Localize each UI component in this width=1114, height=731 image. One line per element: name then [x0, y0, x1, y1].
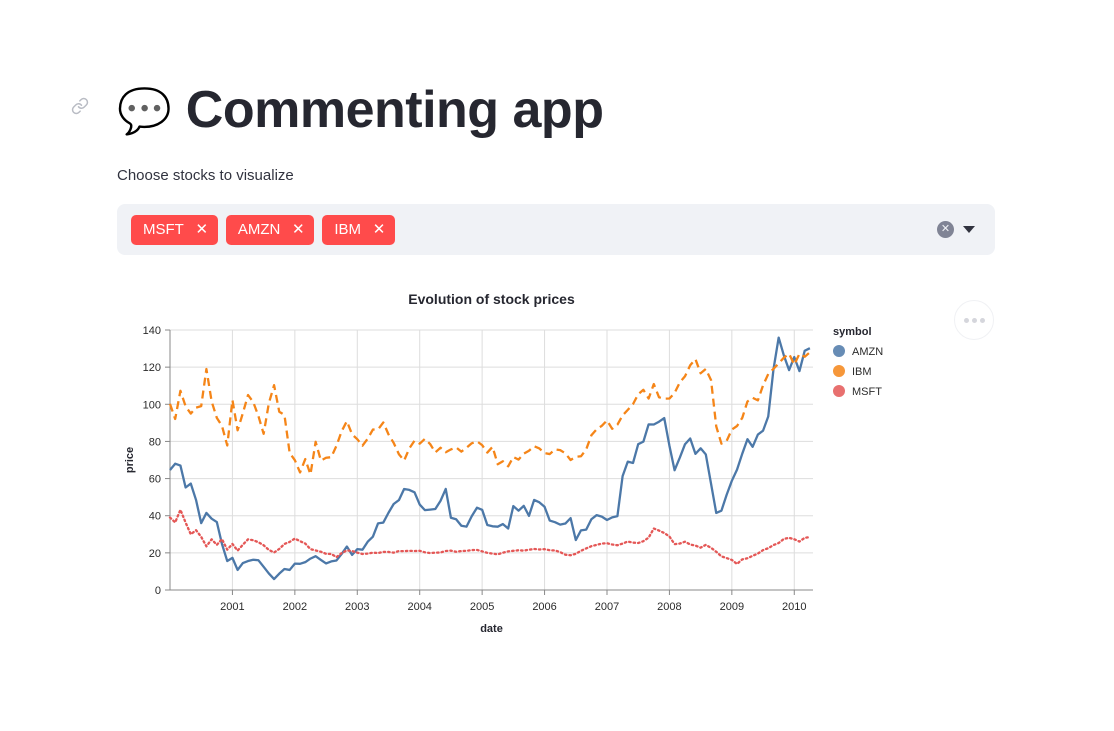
- x-tick-label: 2003: [345, 601, 369, 613]
- remove-tag-icon[interactable]: ✕: [290, 222, 306, 238]
- legend-swatch-ibm[interactable]: [833, 365, 845, 377]
- remove-tag-icon[interactable]: ✕: [194, 222, 210, 238]
- legend-title: symbol: [833, 326, 872, 338]
- series-line-amzn[interactable]: [170, 338, 810, 579]
- stock-chart-block: Evolution of stock prices020406080100120…: [117, 282, 995, 662]
- multiselect-actions: ✕: [937, 221, 975, 238]
- remove-tag-icon[interactable]: ✕: [371, 222, 387, 238]
- multiselect-tag[interactable]: AMZN ✕: [226, 215, 315, 245]
- x-tick-label: 2002: [283, 601, 307, 613]
- dot-icon: [980, 318, 985, 323]
- x-tick-label: 2008: [657, 601, 681, 613]
- y-tick-label: 140: [143, 325, 161, 337]
- legend-label-msft[interactable]: MSFT: [852, 386, 882, 398]
- speech-balloon-icon: 💬: [117, 90, 172, 134]
- x-axis-title: date: [480, 623, 503, 635]
- legend-label-ibm[interactable]: IBM: [852, 366, 872, 378]
- multiselect-tag[interactable]: IBM ✕: [322, 215, 395, 245]
- y-tick-label: 40: [149, 511, 161, 523]
- dot-icon: [972, 318, 977, 323]
- x-tick-label: 2005: [470, 601, 494, 613]
- clear-all-icon[interactable]: ✕: [937, 221, 954, 238]
- multiselect-label: Choose stocks to visualize: [117, 165, 294, 186]
- multiselect-tag-label: IBM: [334, 222, 361, 237]
- stock-price-line-chart[interactable]: Evolution of stock prices020406080100120…: [117, 282, 995, 662]
- multiselect-tag-label: AMZN: [238, 222, 281, 237]
- legend-label-amzn[interactable]: AMZN: [852, 346, 883, 358]
- app-root: 💬 Commenting app Choose stocks to visual…: [0, 0, 1114, 731]
- y-tick-label: 0: [155, 585, 161, 597]
- x-tick-label: 2010: [782, 601, 806, 613]
- y-axis-title: price: [124, 447, 136, 473]
- legend-swatch-msft[interactable]: [833, 385, 845, 397]
- multiselect-tag[interactable]: MSFT ✕: [131, 215, 218, 245]
- y-tick-label: 60: [149, 474, 161, 486]
- link-icon[interactable]: [70, 96, 90, 116]
- chevron-down-icon[interactable]: [963, 226, 975, 233]
- multiselect-tag-list: MSFT ✕ AMZN ✕ IBM ✕: [131, 215, 937, 245]
- x-tick-label: 2001: [220, 601, 244, 613]
- stocks-multiselect[interactable]: MSFT ✕ AMZN ✕ IBM ✕ ✕: [117, 204, 995, 255]
- series-line-ibm[interactable]: [170, 352, 810, 474]
- multiselect-tag-label: MSFT: [143, 222, 184, 237]
- x-tick-label: 2007: [595, 601, 619, 613]
- chart-title: Evolution of stock prices: [408, 291, 575, 307]
- legend-swatch-amzn[interactable]: [833, 345, 845, 357]
- x-tick-label: 2004: [407, 601, 431, 613]
- x-tick-label: 2009: [720, 601, 744, 613]
- y-tick-label: 100: [143, 399, 161, 411]
- dot-icon: [964, 318, 969, 323]
- y-tick-label: 20: [149, 548, 161, 560]
- y-tick-label: 120: [143, 362, 161, 374]
- chart-menu-button[interactable]: [954, 300, 994, 340]
- page-title: Commenting app: [186, 84, 604, 136]
- y-tick-label: 80: [149, 436, 161, 448]
- x-tick-label: 2006: [532, 601, 556, 613]
- series-line-msft[interactable]: [170, 510, 810, 564]
- page-header: 💬 Commenting app: [117, 70, 603, 150]
